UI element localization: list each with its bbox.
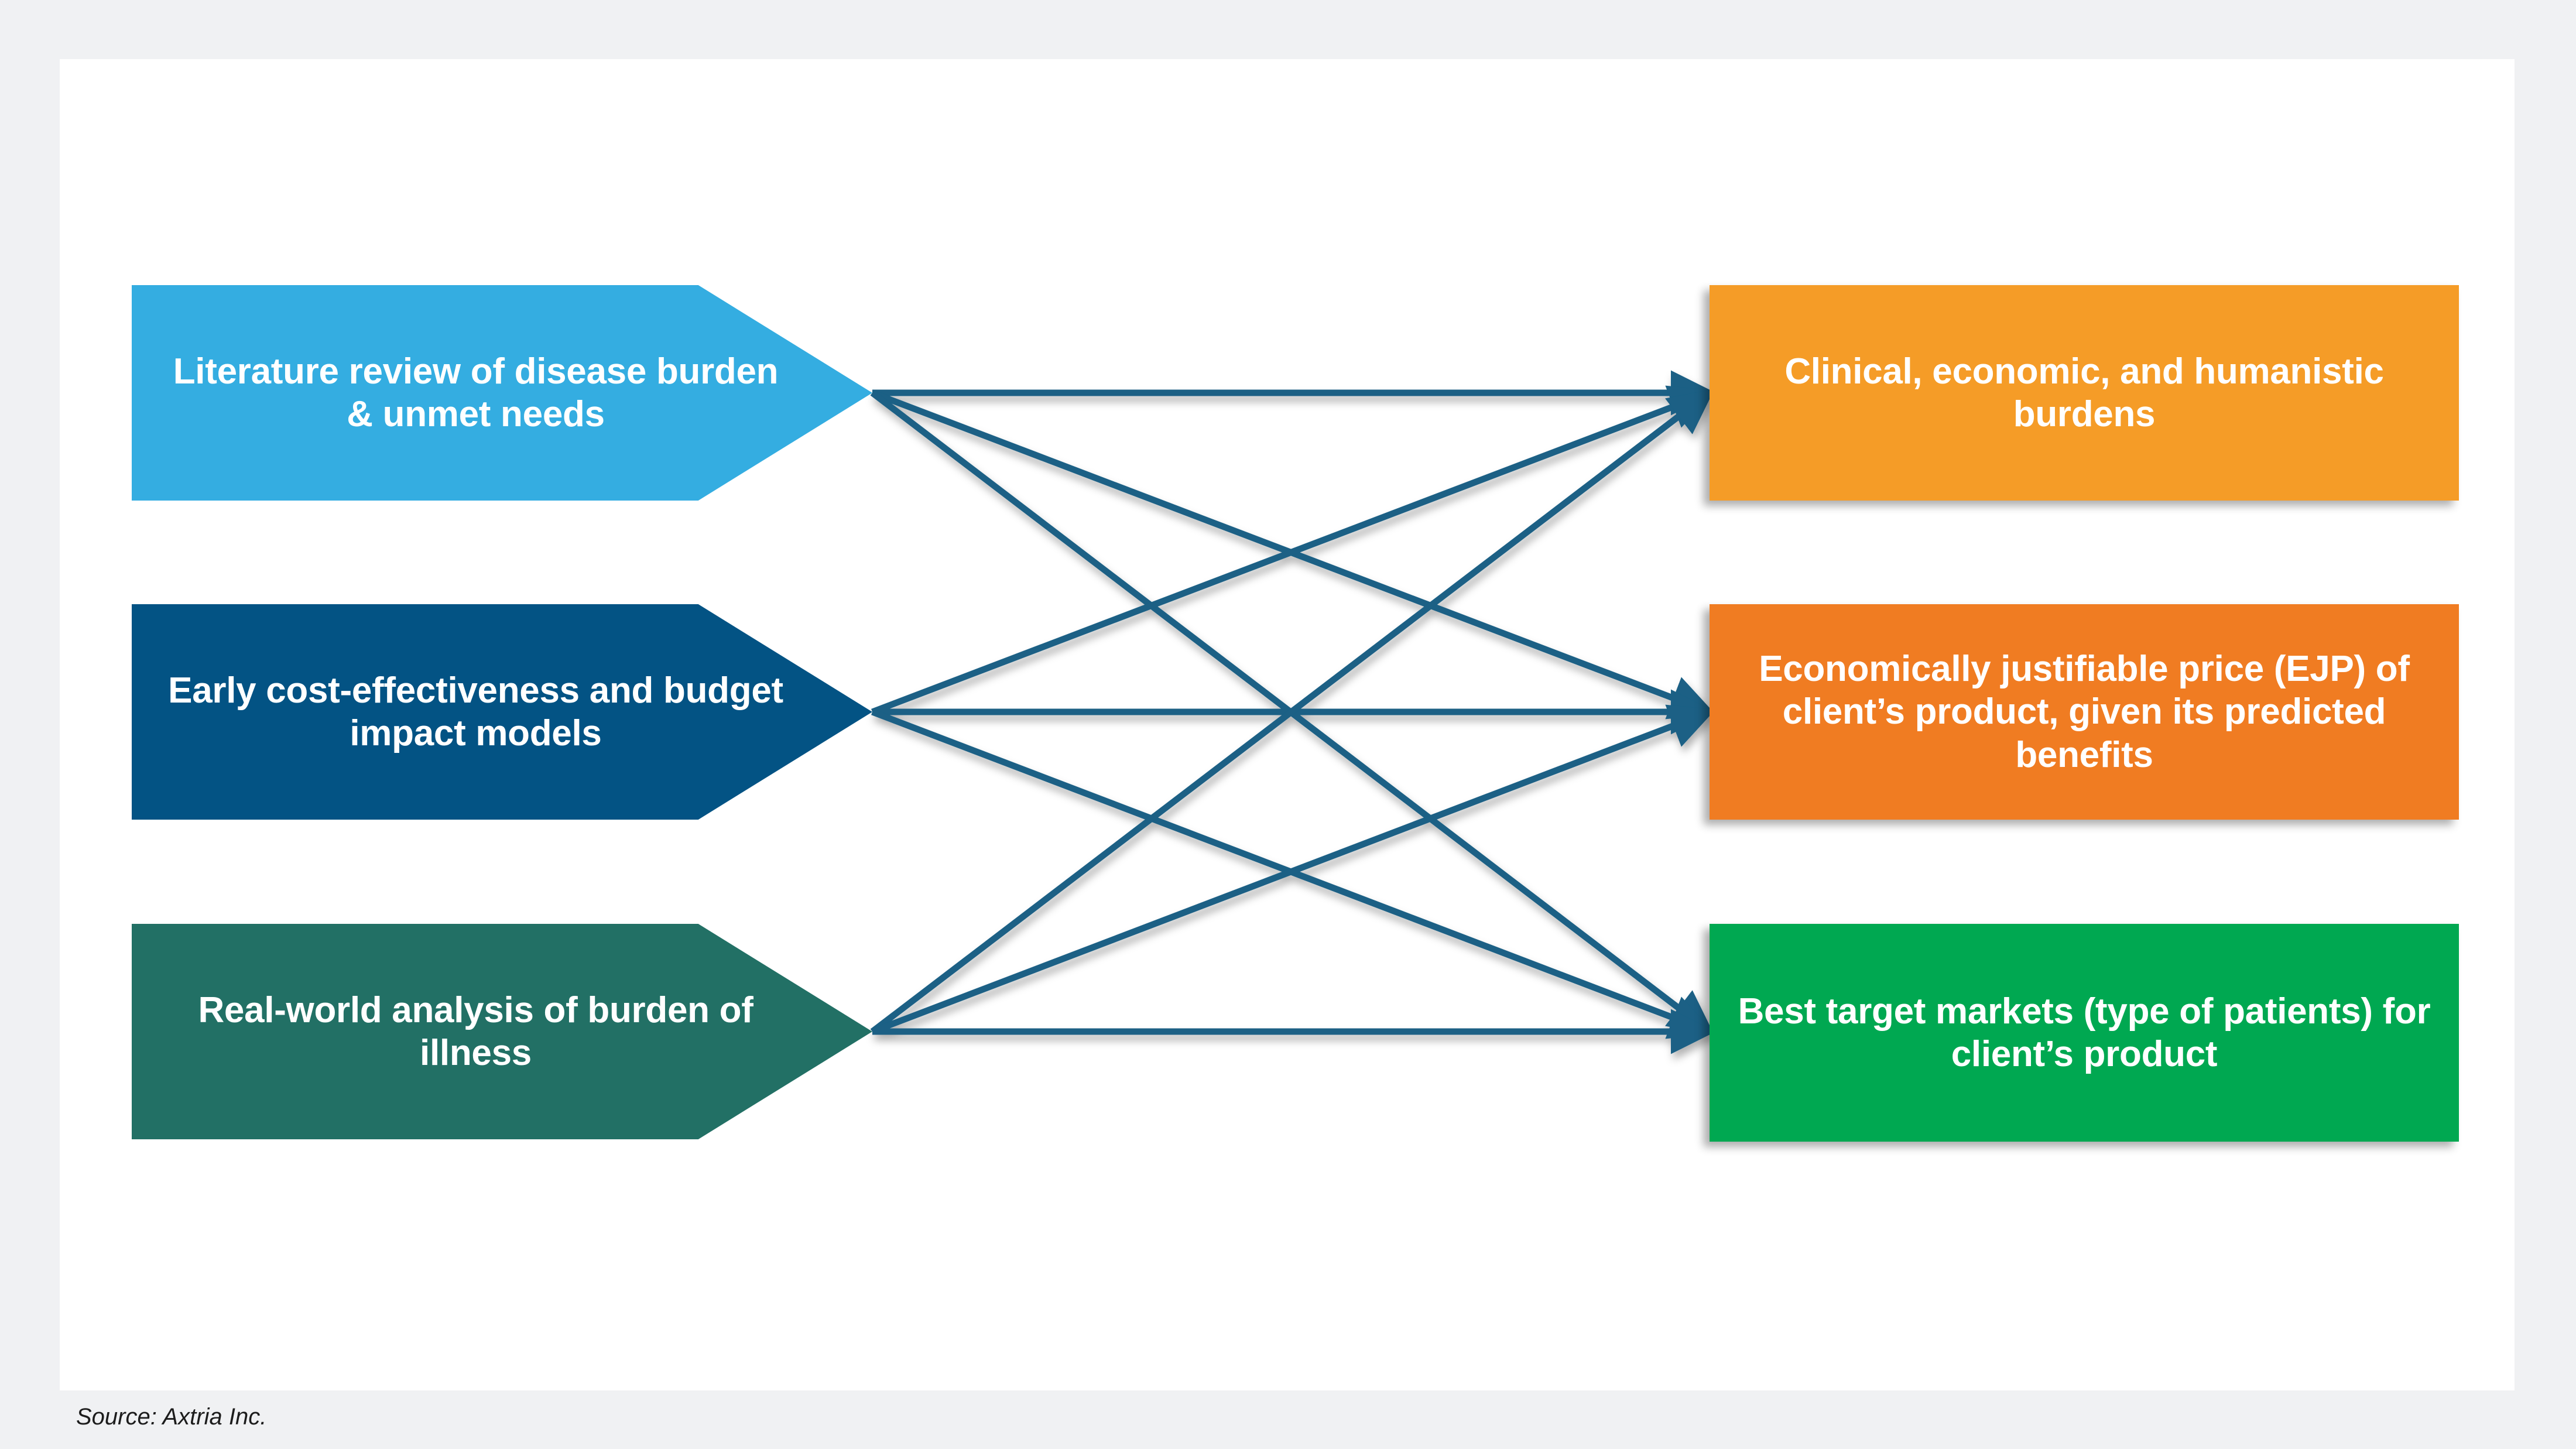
node-burdens[interactable]: Clinical, economic, and humanistic burde… bbox=[1710, 285, 2459, 501]
node-literature-review-label: Literature review of disease burden & un… bbox=[167, 350, 785, 436]
node-burdens-label: Clinical, economic, and humanistic burde… bbox=[1734, 350, 2434, 436]
node-cost-effectiveness-label: Early cost-effectiveness and budget impa… bbox=[167, 669, 785, 755]
node-real-world-analysis-label: Real-world analysis of burden of illness bbox=[167, 989, 785, 1074]
node-ejp-label: Economically justifiable price (EJP) of … bbox=[1734, 648, 2434, 776]
source-caption: Source: Axtria Inc. bbox=[76, 1404, 266, 1430]
node-ejp[interactable]: Economically justifiable price (EJP) of … bbox=[1710, 604, 2459, 820]
diagram-canvas: Literature review of disease burden & un… bbox=[0, 0, 2576, 1449]
node-target-markets-label: Best target markets (type of patients) f… bbox=[1734, 990, 2434, 1075]
node-target-markets[interactable]: Best target markets (type of patients) f… bbox=[1710, 924, 2459, 1142]
